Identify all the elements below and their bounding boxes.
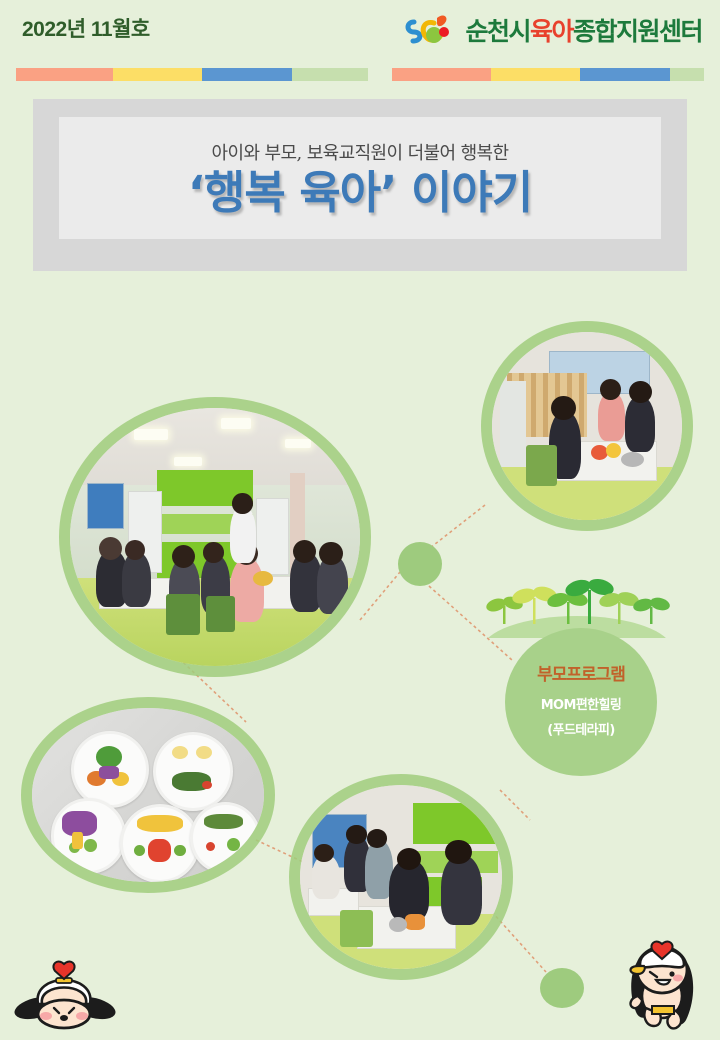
page-title: ‘행복 육아’ 이야기 bbox=[188, 169, 532, 216]
color-bar-seg-green-1 bbox=[292, 68, 368, 81]
mascot-standing-icon bbox=[612, 930, 712, 1034]
center-logo: 순천시육아종합지원센터 bbox=[404, 8, 702, 52]
color-bar-gap bbox=[368, 68, 392, 81]
color-bar bbox=[16, 68, 704, 81]
program-line-1: MOM편한힐링 bbox=[541, 694, 622, 719]
sc-emblem-icon bbox=[404, 10, 460, 50]
mascot-lying-icon bbox=[8, 938, 120, 1034]
title-subtitle: 아이와 부모, 보육교직원이 더불어 행복한 bbox=[212, 139, 509, 165]
photo-food-plates bbox=[32, 708, 264, 882]
logo-city: 순천시 bbox=[465, 17, 530, 46]
logo-wordmark: 순천시육아종합지원센터 bbox=[465, 12, 702, 48]
program-label-circle: 부모프로그램 MOM편한힐링 (푸드테라피) bbox=[505, 628, 657, 776]
connector-dot-bottom-right bbox=[540, 968, 584, 1008]
title-frame: 아이와 부모, 보육교직원이 더불어 행복한 ‘행복 육아’ 이야기 bbox=[33, 99, 687, 271]
color-bar-seg-yellow-1 bbox=[113, 68, 202, 81]
program-title: 부모프로그램 bbox=[537, 660, 625, 685]
photo-bottom-cooking bbox=[300, 785, 502, 969]
title-panel: 아이와 부모, 보육교직원이 더불어 행복한 ‘행복 육아’ 이야기 bbox=[59, 117, 661, 239]
color-bar-seg-green-2 bbox=[670, 68, 704, 81]
connector-dot-middle bbox=[398, 542, 442, 586]
logo-center-b: 종합지원센터 bbox=[573, 17, 702, 46]
issue-date: 2022년 11월호 bbox=[22, 13, 150, 43]
color-bar-seg-salmon-2 bbox=[392, 68, 491, 81]
photo-top-right-table bbox=[492, 332, 682, 520]
color-bar-seg-blue-1 bbox=[202, 68, 292, 81]
photo-main-class bbox=[70, 408, 360, 666]
color-bar-seg-blue-2 bbox=[580, 68, 670, 81]
color-bar-seg-yellow-2 bbox=[491, 68, 580, 81]
program-line-2: (푸드테라피) bbox=[547, 719, 614, 744]
logo-center-a: 육아 bbox=[530, 17, 573, 46]
color-bar-seg-salmon-1 bbox=[16, 68, 113, 81]
